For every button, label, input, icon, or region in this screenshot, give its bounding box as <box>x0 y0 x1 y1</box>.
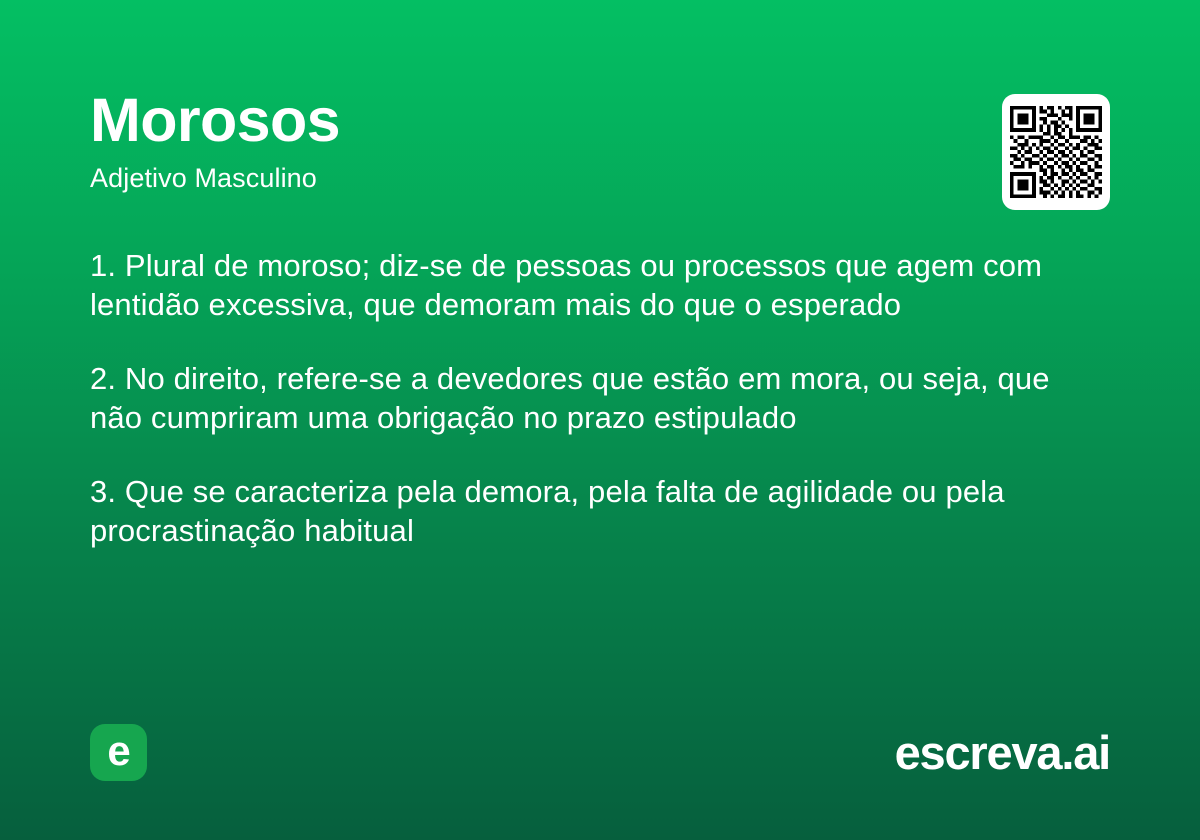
definition-list: 1. Plural de moroso; diz-se de pessoas o… <box>90 246 1105 550</box>
qr-code-panel[interactable] <box>1002 94 1110 210</box>
card-footer: e escreva.ai <box>90 724 1110 782</box>
card-header: Morosos Adjetivo Masculino <box>90 86 1110 195</box>
definition-item: 2. No direito, refere-se a devedores que… <box>90 359 1105 437</box>
qr-code-icon <box>1010 106 1102 198</box>
logo-letter: e <box>107 730 129 772</box>
brand-wordmark: escreva.ai <box>895 726 1110 780</box>
definition-item: 3. Que se caracteriza pela demora, pela … <box>90 472 1105 550</box>
page-title: Morosos <box>90 86 1110 154</box>
definition-item: 1. Plural de moroso; diz-se de pessoas o… <box>90 246 1105 324</box>
dictionary-card: Morosos Adjetivo Masculino 1. Plural de … <box>0 0 1200 840</box>
word-class-label: Adjetivo Masculino <box>90 154 1110 195</box>
escreva-logo[interactable]: e <box>90 724 147 781</box>
